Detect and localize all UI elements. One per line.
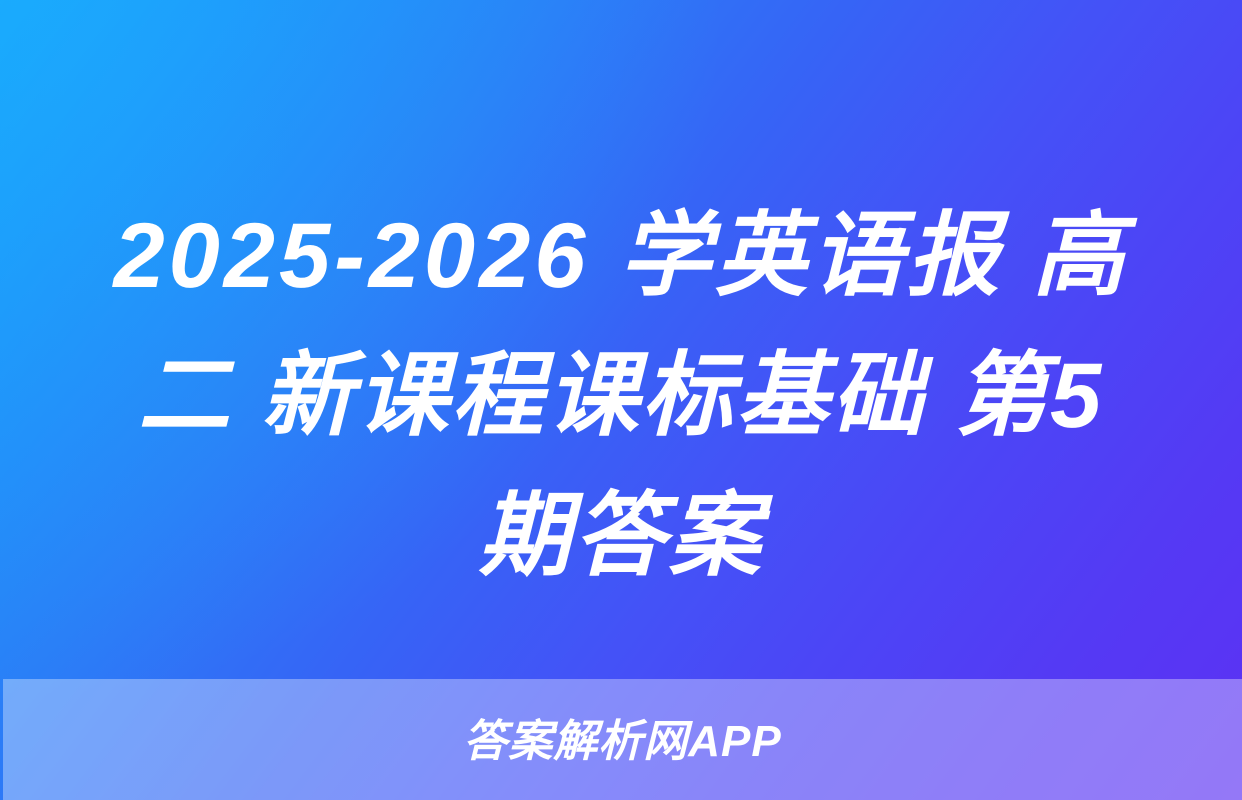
footer-watermark-band: 答案解析网APP bbox=[3, 679, 1242, 800]
app-watermark-label: 答案解析网APP bbox=[463, 720, 781, 764]
title-line-3: 期答案 bbox=[60, 466, 1182, 606]
title-line-2: 二 新课程课标基础 第5 bbox=[60, 326, 1182, 466]
title-line-1: 2025-2026 学英语报 高 bbox=[60, 186, 1182, 326]
answer-card: 2025-2026 学英语报 高 二 新课程课标基础 第5 期答案 答案解析网A… bbox=[0, 0, 1242, 800]
page-title: 2025-2026 学英语报 高 二 新课程课标基础 第5 期答案 bbox=[0, 186, 1242, 606]
